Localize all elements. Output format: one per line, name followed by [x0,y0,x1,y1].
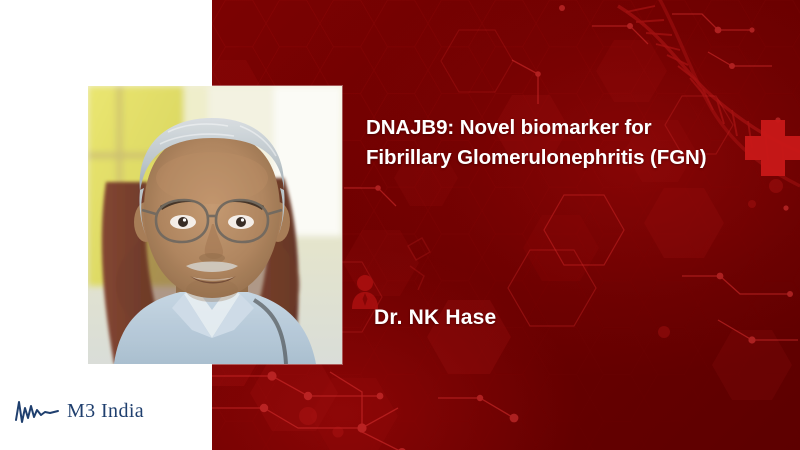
slide-title: DNAJB9: Novel biomarker for Fibrillary G… [366,113,776,173]
speaker-portrait-illustration [88,86,342,364]
pulse-waveform-icon [14,398,60,424]
presentation-slide: DNAJB9: Novel biomarker for Fibrillary G… [0,0,800,450]
logo-text: M3 India [67,400,144,423]
speaker-photo [88,86,342,364]
title-line-2: Fibrillary Glomerulonephritis (FGN) [366,143,776,173]
title-line-1: DNAJB9: Novel biomarker for [366,113,776,143]
m3-india-logo: M3 India [14,398,144,424]
speaker-name: Dr. NK Hase [374,306,496,330]
